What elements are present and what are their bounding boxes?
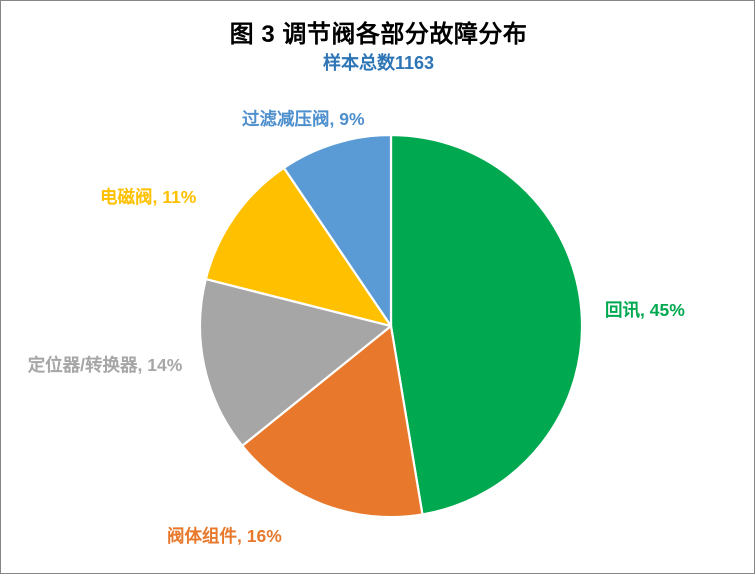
pie-chart-figure: 图 3 调节阀各部分故障分布 样本总数1163 回讯, 45% 阀体组件, 16… [0,0,755,574]
data-label-guolv: 过滤减压阀, 9% [242,107,365,131]
data-label-diancifa: 电磁阀, 11% [100,185,196,209]
data-label-huixun: 回讯, 45% [605,298,685,322]
data-label-dingwei: 定位器/转换器, 14% [25,353,185,377]
pie-svg [199,134,583,518]
data-label-fati: 阀体组件, 16% [167,524,282,548]
pie-plot-area [199,134,583,518]
chart-subtitle: 样本总数1163 [1,49,755,75]
chart-title: 图 3 调节阀各部分故障分布 [1,14,755,49]
pie-slice [391,135,582,514]
pie-slice-group [200,135,582,517]
